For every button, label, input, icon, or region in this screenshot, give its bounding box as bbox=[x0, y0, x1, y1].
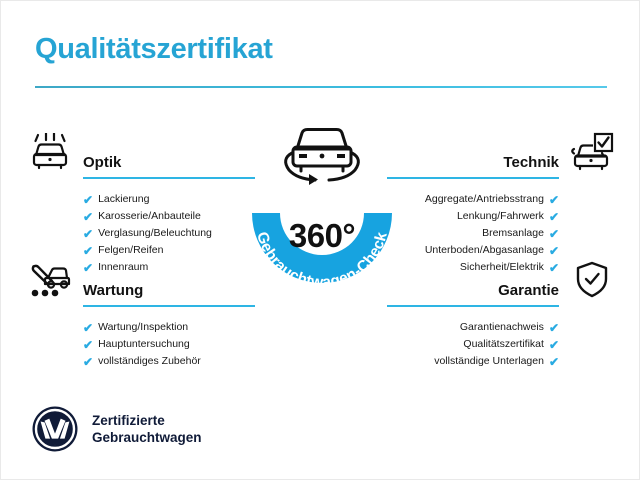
quality-certificate-page: Qualitätszertifikat bbox=[0, 0, 640, 480]
vw-brand-text: Zertifizierte Gebrauchtwagen bbox=[92, 412, 202, 446]
check-icon: ✔ bbox=[83, 245, 93, 257]
car-shine-icon bbox=[25, 131, 75, 173]
title-divider bbox=[35, 86, 607, 88]
list-item: ✔Hauptuntersuchung bbox=[83, 336, 265, 353]
check-icon: ✔ bbox=[549, 339, 559, 351]
car-checkbox-icon bbox=[567, 131, 617, 173]
section-wartung-list: ✔Wartung/Inspektion ✔Hauptuntersuchung ✔… bbox=[25, 319, 265, 370]
section-garantie-list: Garantienachweis✔ Qualitätszertifikat✔ v… bbox=[377, 319, 617, 370]
check-icon: ✔ bbox=[83, 211, 93, 223]
vw-logo-icon bbox=[31, 405, 79, 453]
list-item: vollständige Unterlagen✔ bbox=[377, 353, 559, 370]
list-item: Qualitätszertifikat✔ bbox=[377, 336, 559, 353]
list-item-label: vollständige Unterlagen bbox=[434, 353, 544, 370]
check-icon: ✔ bbox=[549, 245, 559, 257]
list-item-label: Unterboden/Abgasanlage bbox=[425, 242, 544, 259]
section-technik-title: Technik bbox=[503, 154, 559, 171]
list-item-label: Wartung/Inspektion bbox=[98, 319, 188, 336]
list-item-label: Karosserie/Anbauteile bbox=[98, 208, 201, 225]
list-item-label: vollständiges Zubehör bbox=[98, 353, 201, 370]
section-optik-title: Optik bbox=[83, 154, 121, 171]
page-title: Qualitätszertifikat bbox=[35, 33, 273, 66]
list-item: Garantienachweis✔ bbox=[377, 319, 559, 336]
list-item: ✔Wartung/Inspektion bbox=[83, 319, 265, 336]
check-icon: ✔ bbox=[83, 228, 93, 240]
shield-check-icon bbox=[567, 259, 617, 301]
list-item-label: Lackierung bbox=[98, 191, 149, 208]
check-icon: ✔ bbox=[83, 194, 93, 206]
section-wartung-title: Wartung bbox=[83, 282, 143, 299]
list-item-label: Felgen/Reifen bbox=[98, 242, 163, 259]
check-icon: ✔ bbox=[549, 356, 559, 368]
list-item-label: Lenkung/Fahrwerk bbox=[457, 208, 544, 225]
list-item-label: Qualitätszertifikat bbox=[463, 336, 544, 353]
check-icon: ✔ bbox=[549, 322, 559, 334]
check-icon: ✔ bbox=[83, 356, 93, 368]
list-item-label: Aggregate/Antriebsstrang bbox=[425, 191, 544, 208]
check-icon: ✔ bbox=[549, 228, 559, 240]
badge-360-text: 360° bbox=[223, 217, 421, 255]
list-item-label: Hauptuntersuchung bbox=[98, 336, 190, 353]
list-item-label: Verglasung/Beleuchtung bbox=[98, 225, 212, 242]
check-icon: ✔ bbox=[83, 322, 93, 334]
car-lift-wrench-icon bbox=[25, 259, 75, 301]
check-icon: ✔ bbox=[549, 194, 559, 206]
vw-brand-footer: Zertifizierte Gebrauchtwagen bbox=[31, 405, 202, 453]
check-icon: ✔ bbox=[549, 211, 559, 223]
vw-brand-line-1: Zertifizierte bbox=[92, 412, 202, 429]
badge-360-gebrauchtwagen-check: Gebrauchtwagen-Check 360° bbox=[223, 113, 421, 321]
list-item: ✔vollständiges Zubehör bbox=[83, 353, 265, 370]
check-icon: ✔ bbox=[83, 339, 93, 351]
section-garantie-title: Garantie bbox=[498, 282, 559, 299]
list-item-label: Bremsanlage bbox=[482, 225, 544, 242]
vw-brand-line-2: Gebrauchtwagen bbox=[92, 429, 202, 446]
list-item-label: Garantienachweis bbox=[460, 319, 544, 336]
